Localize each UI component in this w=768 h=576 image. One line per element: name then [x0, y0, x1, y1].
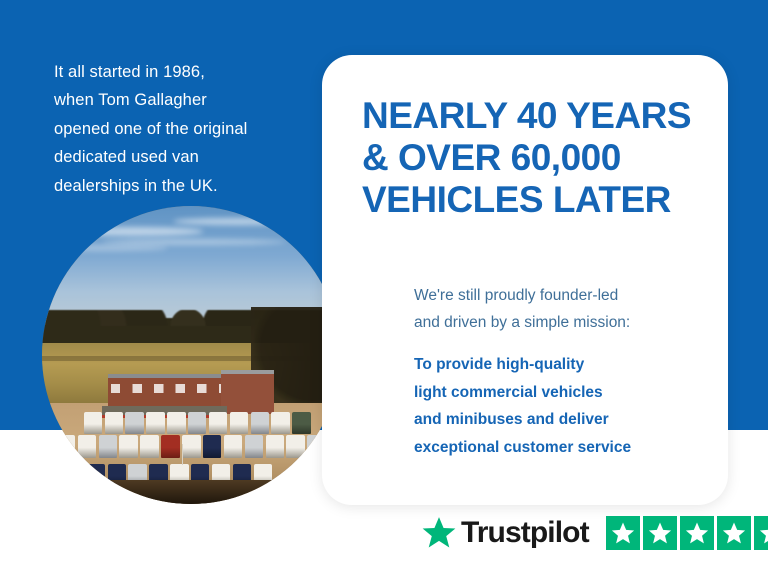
photo-lamp-post	[182, 444, 183, 465]
dealership-photo	[42, 206, 340, 504]
promo-canvas: It all started in 1986, when Tom Gallagh…	[0, 0, 768, 576]
content-card: NEARLY 40 YEARS & OVER 60,000 VEHICLES L…	[322, 55, 728, 505]
photo-van-row	[42, 435, 340, 457]
cloud	[173, 218, 304, 225]
cloud	[66, 227, 203, 235]
mission-intro-line: and driven by a simple mission:	[414, 310, 714, 337]
rating-star	[717, 516, 751, 550]
mission-intro-line: We're still proudly founder-led	[414, 283, 714, 310]
trustpilot-wordmark: Trustpilot	[461, 518, 589, 548]
rating-star	[680, 516, 714, 550]
trustpilot-star-rating	[606, 516, 768, 550]
intro-line: opened one of the original	[54, 115, 304, 143]
mission-line: exceptional customer service	[414, 434, 714, 462]
intro-line: dedicated used van	[54, 143, 304, 171]
headline-line: NEARLY 40 YEARS	[362, 95, 702, 137]
mission-line: light commercial vehicles	[414, 379, 714, 407]
photo-building-annex	[221, 370, 275, 413]
trustpilot-rating[interactable]: Trustpilot	[422, 516, 768, 550]
intro-line: It all started in 1986,	[54, 58, 304, 86]
page-title: NEARLY 40 YEARS & OVER 60,000 VEHICLES L…	[362, 95, 702, 222]
rating-star	[754, 516, 768, 550]
intro-line: when Tom Gallagher	[54, 86, 304, 114]
trustpilot-star-icon	[422, 516, 456, 550]
rating-star	[606, 516, 640, 550]
intro-line: dealerships in the UK.	[54, 172, 304, 200]
headline-line: VEHICLES LATER	[362, 179, 702, 221]
cloud	[48, 245, 167, 250]
rating-star	[643, 516, 677, 550]
intro-copy: It all started in 1986, when Tom Gallagh…	[54, 58, 304, 200]
mission-intro-text: We're still proudly founder-led and driv…	[414, 283, 714, 336]
headline-line: & OVER 60,000	[362, 137, 702, 179]
photo-foreground	[42, 480, 340, 504]
photo-van-row	[42, 412, 340, 434]
mission-statement: To provide high-quality light commercial…	[414, 351, 714, 461]
mission-line: To provide high-quality	[414, 351, 714, 379]
trustpilot-logo[interactable]: Trustpilot	[422, 516, 589, 550]
mission-line: and minibuses and deliver	[414, 406, 714, 434]
